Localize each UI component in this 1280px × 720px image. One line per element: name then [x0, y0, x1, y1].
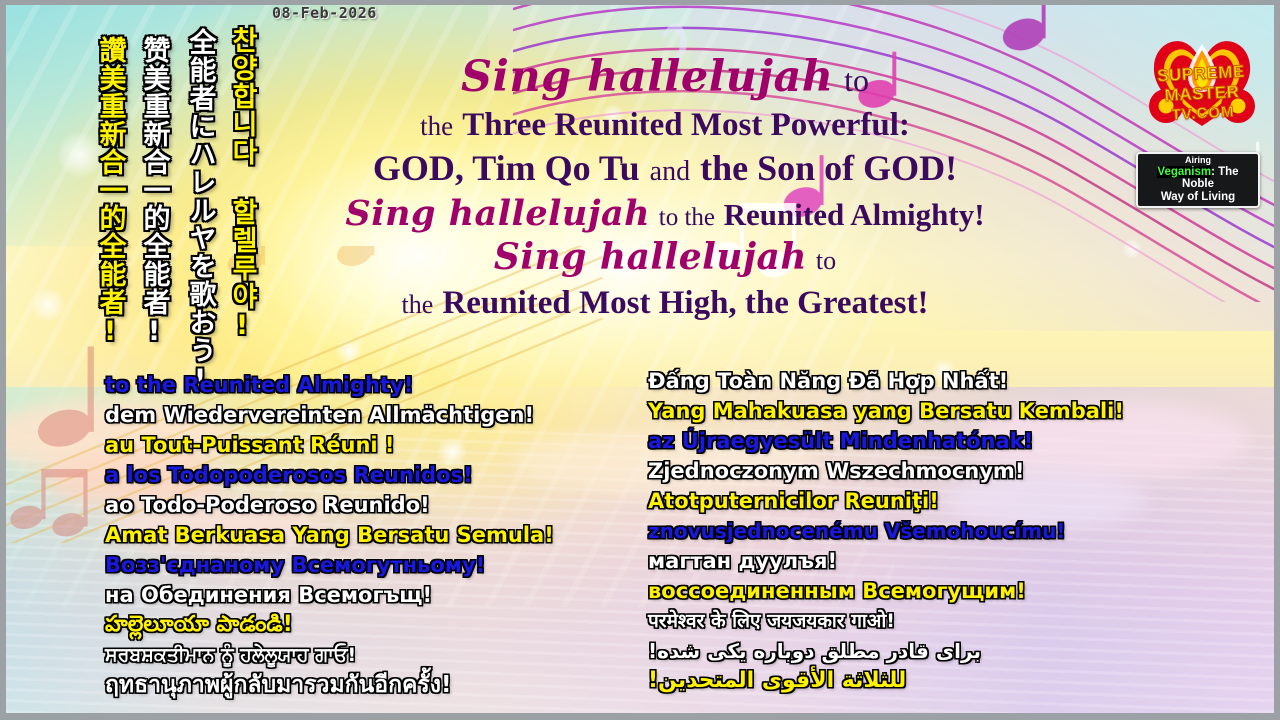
airing-badge[interactable]: Airing Veganism: The Noble Way of Living: [1136, 152, 1260, 208]
vertical-text-simplified-chinese: 赞美重新合一的全能者!: [140, 36, 168, 348]
translation-mongolian: магтан дуулъя!: [648, 546, 1208, 576]
headline-script-1: Sing hallelujah: [461, 52, 834, 102]
translation-hindi: परमेश्वर के लिए जयजयकार गाओ!: [648, 606, 1208, 636]
headline-script-4: Sing hallelujah: [345, 193, 650, 234]
headline-bold-3b: the Son of GOD!: [700, 148, 957, 188]
headline-script-5: Sing hallelujah: [494, 236, 807, 278]
frame-bottom: [0, 713, 1280, 720]
headline-line-5: Sing hallelujah to: [300, 239, 1030, 283]
supreme-master-tv-logo[interactable]: SUPREME MASTER TV.COM: [1136, 22, 1268, 140]
translation-arabic: للثلاثة الأقوى المتحدين!: [648, 666, 1208, 696]
translation-english: to the Reunited Almighty!: [105, 370, 665, 400]
headline-bold-3a: GOD, Tim Qo Tu: [373, 148, 640, 188]
translation-german: dem Wiedervereinten Allmächtigen!: [105, 400, 665, 430]
translation-malay: Amat Berkuasa Yang Bersatu Semula!: [105, 520, 665, 550]
translation-czech: znovusjednocenému Všemohoucímu!: [648, 516, 1208, 546]
headline-bold-6: Reunited Most High, the Greatest!: [442, 285, 928, 321]
airing-program-line1: Veganism: The Noble: [1141, 166, 1255, 191]
headline-bold-4: Reunited Almighty!: [724, 197, 985, 232]
translations-column-left: to the Reunited Almighty! dem Wiedervere…: [105, 370, 665, 700]
translation-punjabi: ਸਰਬਸ਼ਕਤੀਮਾਨ ਨੂੰ ਹਲੇਲੂਯਾਹ ਗਾਓ!: [105, 640, 665, 670]
frame-left: [0, 0, 6, 720]
headline-line-4: Sing hallelujah to the Reunited Almighty…: [300, 196, 1030, 237]
broadcast-screen: 08-Feb-2026 SUPREME MASTER TV.COM Airing: [0, 0, 1280, 720]
headline-bold-2: Three Reunited Most Powerful:: [462, 107, 910, 143]
translations-column-right: Đấng Toàn Năng Đã Hợp Nhất! Yang Mahakua…: [648, 366, 1208, 696]
airing-highlight: Veganism: [1157, 166, 1211, 178]
frame-top: [0, 0, 1280, 5]
headline-word-tothe-4: to the: [659, 204, 715, 231]
translation-telugu: హల్లెలూయా పాడండి!: [105, 610, 665, 640]
headline-word-the-2: the: [420, 111, 453, 141]
translation-persian: برای قادر مطلق دوباره یکی شده!: [648, 636, 1208, 666]
translation-indonesian: Yang Mahakuasa yang Bersatu Kembali!: [648, 396, 1208, 426]
headline-word-the-6: the: [401, 290, 433, 319]
translation-ukrainian: Возз'єднаному Всемогутньому!: [105, 550, 665, 580]
headline-line-1: Sing hallelujah to: [300, 56, 1030, 105]
frame-right: [1274, 0, 1280, 720]
headline-word-and-3: and: [650, 156, 690, 187]
vertical-text-korean: 찬양합니다 할렐루야!: [228, 26, 256, 342]
translation-romanian: Atotputernicilor Reuniţi!: [648, 486, 1208, 516]
headline-word-to-5: to: [816, 246, 836, 275]
translation-hungarian: az Újraegyesült Mindenhatónak!: [648, 426, 1208, 456]
vertical-text-japanese: 全能者にハレルヤを歌おう!: [186, 28, 214, 396]
translation-spanish: a los Todopoderosos Reunidos!: [105, 460, 665, 490]
heart-flame-icon: [1136, 22, 1268, 140]
headline-line-6: the Reunited Most High, the Greatest!: [300, 285, 1030, 320]
translation-french: au Tout-Puissant Réuni !: [105, 430, 665, 460]
translation-polish: Zjednoczonym Wszechmocnym!: [648, 456, 1208, 486]
translation-vietnamese: Đấng Toàn Năng Đã Hợp Nhất!: [648, 366, 1208, 396]
headline-word-to-1: to: [844, 62, 869, 98]
translation-thai: ฤทธานุภาพผู้กลับมารวมกันอีกครั้ง!: [105, 670, 665, 700]
headline-line-2: the Three Reunited Most Powerful:: [300, 107, 1030, 148]
airing-program-line2: Way of Living: [1141, 191, 1255, 203]
airing-label: Airing: [1141, 156, 1255, 166]
translation-russian: воссоединенным Всемогущим!: [648, 576, 1208, 606]
headline-line-3: GOD, Tim Qo Tu and the Son of GOD!: [300, 150, 1030, 194]
translation-portuguese: ao Todo-Poderoso Reunido!: [105, 490, 665, 520]
translation-bulgarian: на Обединения Всемогъщ!: [105, 580, 665, 610]
vertical-text-traditional-chinese: 讚美重新合一的全能者!: [96, 36, 124, 348]
headline-block: Sing hallelujah to the Three Reunited Mo…: [300, 56, 1030, 322]
broadcast-date: 08-Feb-2026: [272, 4, 377, 22]
